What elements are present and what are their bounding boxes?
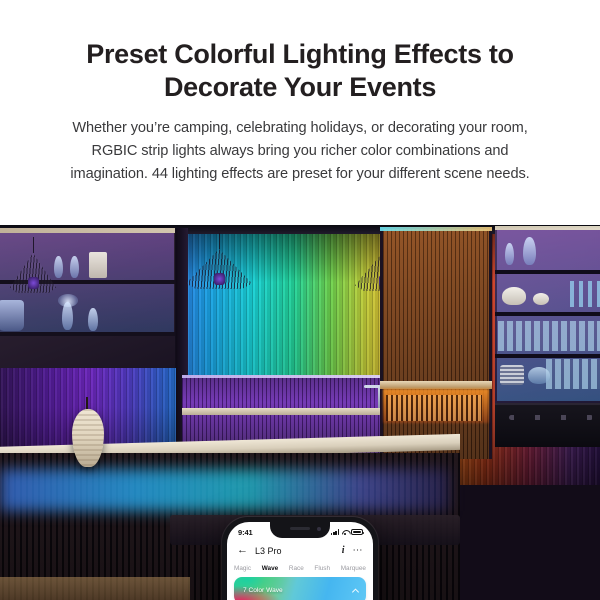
wood-panel-texture (383, 229, 489, 459)
cellular-signal-icon (331, 529, 339, 535)
lamp-bulb (28, 277, 39, 289)
decor-glassware (0, 300, 24, 331)
app-navigation-bar: ← L3 Pro i ⋯ (227, 541, 373, 560)
wine-glass-row (498, 321, 600, 351)
decor-bottles (570, 281, 600, 307)
decor-bowl (502, 287, 526, 305)
front-camera-icon (317, 527, 321, 531)
promo-description: Whether you’re camping, celebrating holi… (0, 104, 600, 186)
status-indicators (331, 529, 363, 535)
pendant-lamp (10, 237, 56, 299)
ribbed-decor-vase (72, 409, 104, 467)
page-title: Preset Colorful Lighting Effects to Deco… (0, 0, 600, 104)
smartphone-mockup: 9:41 ← L3 Pro i ⋯ Magic Wave Race Flush … (222, 517, 378, 600)
wine-glass-row (546, 359, 600, 389)
led-strip-right-panel (380, 227, 492, 231)
kitchen-lifestyle-photo: 9:41 ← L3 Pro i ⋯ Magic Wave Race Flush … (0, 225, 600, 600)
wifi-icon (342, 529, 349, 535)
battery-icon (351, 529, 363, 535)
oven-controls (509, 415, 593, 420)
decor-vase (70, 256, 79, 278)
shelf-board (0, 332, 175, 336)
tab-race[interactable]: Race (289, 565, 304, 572)
effect-name: 7 Color Wave (243, 587, 283, 594)
right-wood-panel (380, 229, 492, 459)
tab-wave[interactable]: Wave (262, 565, 278, 572)
decor-plates (500, 365, 524, 385)
more-options-icon[interactable]: ⋯ (353, 548, 364, 554)
shelf-board (495, 312, 600, 316)
phone-notch (270, 522, 330, 538)
back-arrow-icon[interactable]: ← (237, 545, 248, 556)
led-strip-right-cabinet (495, 226, 600, 230)
lamp-cord (219, 233, 220, 249)
promo-banner: Preset Colorful Lighting Effects to Deco… (0, 0, 600, 225)
decor-crystal-bowl (528, 367, 550, 384)
info-icon[interactable]: i (342, 545, 345, 556)
lamp-cord (33, 237, 34, 253)
decor-bowl (533, 293, 549, 305)
lamp-bulb (214, 273, 225, 285)
wood-floor (0, 577, 190, 600)
decor-bottle (88, 308, 98, 331)
decor-vase (523, 237, 536, 265)
shelf-board (495, 354, 600, 358)
decor-vase (62, 302, 73, 330)
effect-category-tabs: Magic Wave Race Flush Marquee (227, 561, 373, 576)
tab-marquee[interactable]: Marquee (341, 565, 366, 572)
effect-card-7-color-wave[interactable]: 7 Color Wave (234, 577, 366, 600)
chevron-up-icon[interactable] (352, 588, 359, 595)
earpiece-speaker-icon (290, 527, 310, 530)
device-name-title: L3 Pro (255, 546, 342, 556)
wine-rack (386, 395, 482, 421)
built-in-oven (495, 403, 600, 447)
right-counter-top (380, 381, 492, 389)
tab-magic[interactable]: Magic (234, 565, 251, 572)
tab-flush[interactable]: Flush (314, 565, 330, 572)
phone-screen: 9:41 ← L3 Pro i ⋯ Magic Wave Race Flush … (227, 522, 373, 600)
decor-box (89, 252, 107, 278)
decor-vase (505, 243, 514, 265)
shelf-board (495, 270, 600, 274)
led-strip-under-island (0, 469, 450, 511)
pendant-lamp (186, 233, 252, 307)
effect-list: 7 Color Wave Speed 50% 7 Color Wave Back (227, 577, 373, 600)
status-time: 9:41 (238, 528, 253, 537)
